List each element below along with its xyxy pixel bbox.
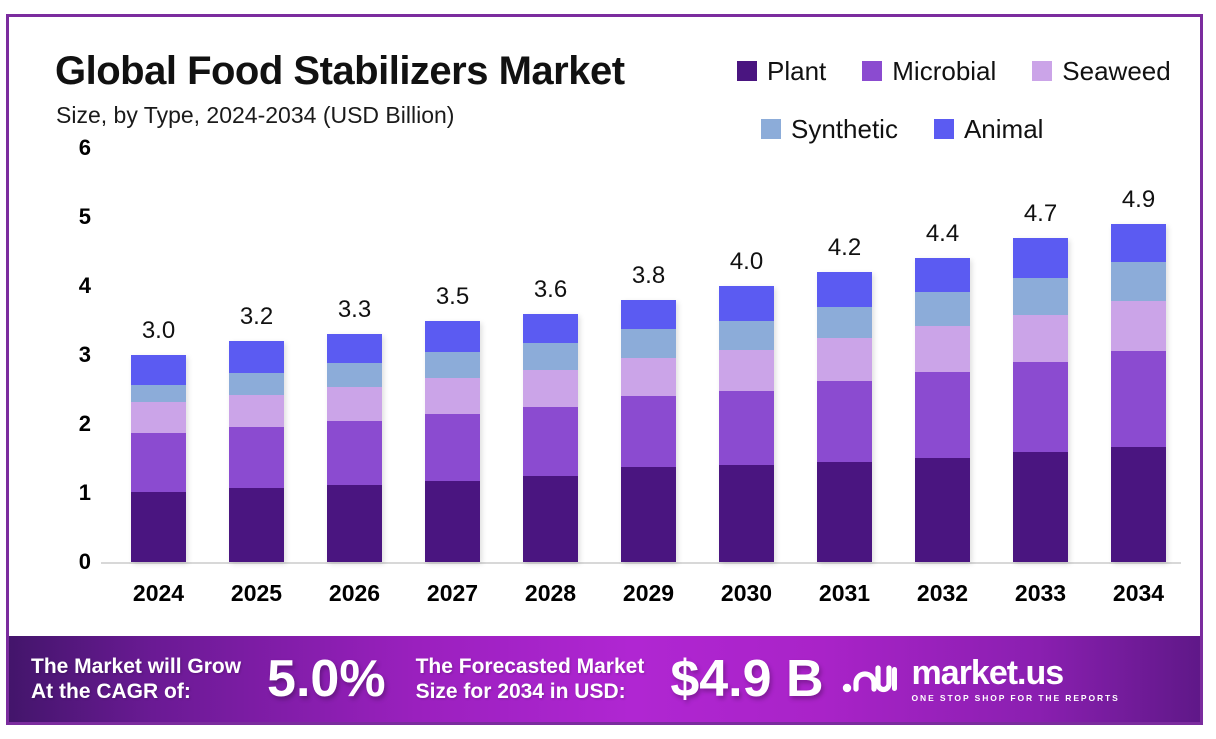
bar-segment-2027-synthetic[interactable] <box>425 352 480 378</box>
bar-segment-2033-microbial[interactable] <box>1013 362 1068 452</box>
bar-2034[interactable] <box>1111 224 1166 562</box>
bar-segment-2024-plant[interactable] <box>131 492 186 562</box>
forecast-value: $4.9 B <box>670 649 823 709</box>
bar-segment-2027-microbial[interactable] <box>425 414 480 481</box>
market-us-logo-text-block: market.us ONE STOP SHOP FOR THE REPORTS <box>912 656 1120 703</box>
bar-segment-2032-animal[interactable] <box>915 258 970 291</box>
bar-total-label-2030: 4.0 <box>707 248 787 276</box>
bar-segment-2029-seaweed[interactable] <box>621 358 676 396</box>
bar-segment-2026-synthetic[interactable] <box>327 363 382 387</box>
bar-segment-2025-plant[interactable] <box>229 488 284 562</box>
y-axis-label-0: 0 <box>51 549 91 575</box>
bar-total-label-2029: 3.8 <box>609 262 689 290</box>
bar-segment-2033-synthetic[interactable] <box>1013 278 1068 315</box>
bar-segment-2029-synthetic[interactable] <box>621 329 676 357</box>
bar-segment-2027-seaweed[interactable] <box>425 378 480 413</box>
y-axis-label-5: 5 <box>51 204 91 230</box>
x-axis-label-2025: 2025 <box>212 580 302 607</box>
bar-segment-2026-seaweed[interactable] <box>327 387 382 421</box>
bar-segment-2024-animal[interactable] <box>131 355 186 385</box>
bar-segment-2028-animal[interactable] <box>523 314 578 343</box>
bar-2033[interactable] <box>1013 238 1068 562</box>
chart-card: Global Food Stabilizers Market Size, by … <box>6 14 1203 725</box>
bar-segment-2031-animal[interactable] <box>817 272 872 307</box>
bar-2031[interactable] <box>817 272 872 562</box>
bar-total-label-2034: 4.9 <box>1099 186 1179 214</box>
bar-segment-2029-plant[interactable] <box>621 467 676 562</box>
bar-2030[interactable] <box>719 286 774 562</box>
bar-segment-2025-animal[interactable] <box>229 341 284 373</box>
cagr-caption-line2: At the CAGR of: <box>31 679 241 704</box>
x-axis-label-2024: 2024 <box>114 580 204 607</box>
bar-segment-2030-seaweed[interactable] <box>719 350 774 391</box>
bar-2026[interactable] <box>327 334 382 562</box>
cagr-value: 5.0% <box>267 649 386 709</box>
cagr-caption-line1: The Market will Grow <box>31 654 241 679</box>
bar-2025[interactable] <box>229 341 284 562</box>
bar-segment-2031-synthetic[interactable] <box>817 307 872 339</box>
bar-segment-2034-microbial[interactable] <box>1111 351 1166 447</box>
bar-segment-2033-seaweed[interactable] <box>1013 315 1068 362</box>
bar-segment-2026-plant[interactable] <box>327 485 382 562</box>
x-axis-line <box>101 562 1181 564</box>
market-us-logo-icon <box>842 658 902 701</box>
bar-segment-2030-plant[interactable] <box>719 465 774 562</box>
market-us-logo-name: market.us <box>912 656 1120 690</box>
bar-segment-2034-synthetic[interactable] <box>1111 262 1166 301</box>
bar-total-label-2032: 4.4 <box>903 220 983 248</box>
bar-segment-2032-microbial[interactable] <box>915 372 970 458</box>
bar-segment-2026-microbial[interactable] <box>327 421 382 485</box>
bar-segment-2025-synthetic[interactable] <box>229 373 284 395</box>
bar-2024[interactable] <box>131 355 186 562</box>
x-axis-label-2033: 2033 <box>996 580 1086 607</box>
y-axis-label-4: 4 <box>51 273 91 299</box>
bar-segment-2031-microbial[interactable] <box>817 381 872 462</box>
bar-segment-2028-synthetic[interactable] <box>523 343 578 371</box>
bar-segment-2027-plant[interactable] <box>425 481 480 562</box>
y-axis-label-3: 3 <box>51 342 91 368</box>
bar-total-label-2031: 4.2 <box>805 234 885 262</box>
bar-2029[interactable] <box>621 300 676 562</box>
bar-total-label-2024: 3.0 <box>119 317 199 345</box>
bar-total-label-2033: 4.7 <box>1001 200 1081 228</box>
bar-segment-2034-animal[interactable] <box>1111 224 1166 262</box>
bar-segment-2028-plant[interactable] <box>523 476 578 562</box>
market-us-logo-tagline: ONE STOP SHOP FOR THE REPORTS <box>912 693 1120 703</box>
bar-segment-2027-animal[interactable] <box>425 321 480 353</box>
bar-segment-2030-synthetic[interactable] <box>719 321 774 351</box>
x-axis-label-2026: 2026 <box>310 580 400 607</box>
bar-segment-2032-synthetic[interactable] <box>915 292 970 327</box>
bar-segment-2028-seaweed[interactable] <box>523 370 578 407</box>
market-us-logo[interactable]: market.us ONE STOP SHOP FOR THE REPORTS <box>842 656 1120 703</box>
x-axis-label-2028: 2028 <box>506 580 596 607</box>
bar-segment-2031-seaweed[interactable] <box>817 338 872 380</box>
infographic-root: Global Food Stabilizers Market Size, by … <box>0 0 1216 739</box>
bar-segment-2028-microbial[interactable] <box>523 407 578 477</box>
bar-segment-2030-animal[interactable] <box>719 286 774 321</box>
bar-segment-2025-microbial[interactable] <box>229 427 284 488</box>
x-axis-label-2034: 2034 <box>1094 580 1184 607</box>
bar-total-label-2025: 3.2 <box>217 303 297 331</box>
bar-2028[interactable] <box>523 314 578 562</box>
x-axis-label-2027: 2027 <box>408 580 498 607</box>
bar-segment-2030-microbial[interactable] <box>719 391 774 466</box>
bar-segment-2034-plant[interactable] <box>1111 447 1166 562</box>
x-axis-label-2030: 2030 <box>702 580 792 607</box>
summary-banner: The Market will Grow At the CAGR of: 5.0… <box>9 636 1203 722</box>
x-axis-label-2029: 2029 <box>604 580 694 607</box>
chart-plot-area: 01234563.020243.220253.320263.520273.620… <box>9 17 1203 637</box>
bar-segment-2033-animal[interactable] <box>1013 238 1068 278</box>
bar-total-label-2028: 3.6 <box>511 276 591 304</box>
bar-total-label-2026: 3.3 <box>315 296 395 324</box>
bar-segment-2029-microbial[interactable] <box>621 396 676 467</box>
forecast-caption-line2: Size for 2034 in USD: <box>416 679 645 704</box>
x-axis-label-2031: 2031 <box>800 580 890 607</box>
x-axis-label-2032: 2032 <box>898 580 988 607</box>
forecast-caption-line1: The Forecasted Market <box>416 654 645 679</box>
bar-2027[interactable] <box>425 321 480 563</box>
y-axis-label-6: 6 <box>51 135 91 161</box>
cagr-caption: The Market will Grow At the CAGR of: <box>31 654 241 704</box>
bar-segment-2024-synthetic[interactable] <box>131 385 186 402</box>
bar-segment-2031-plant[interactable] <box>817 462 872 562</box>
bar-2032[interactable] <box>915 258 970 562</box>
bar-segment-2024-seaweed[interactable] <box>131 402 186 433</box>
bar-segment-2026-animal[interactable] <box>327 334 382 362</box>
y-axis-label-1: 1 <box>51 480 91 506</box>
bar-segment-2033-plant[interactable] <box>1013 452 1068 562</box>
bar-segment-2025-seaweed[interactable] <box>229 395 284 427</box>
bar-segment-2029-animal[interactable] <box>621 300 676 330</box>
bar-segment-2032-seaweed[interactable] <box>915 326 970 372</box>
y-axis-label-2: 2 <box>51 411 91 437</box>
bar-total-label-2027: 3.5 <box>413 283 493 311</box>
bar-segment-2034-seaweed[interactable] <box>1111 301 1166 351</box>
forecast-caption: The Forecasted Market Size for 2034 in U… <box>416 654 645 704</box>
bar-segment-2024-microbial[interactable] <box>131 433 186 492</box>
bar-segment-2032-plant[interactable] <box>915 458 970 562</box>
